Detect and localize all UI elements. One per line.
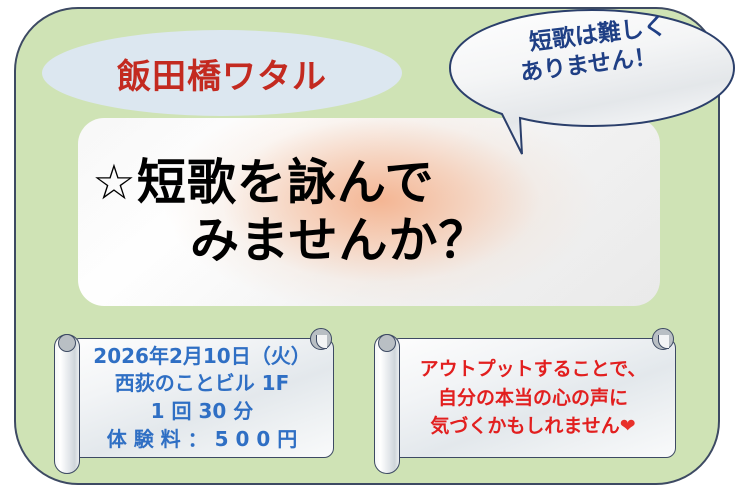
event-details-scroll: 2026年2月10日（火） 西荻のことビル 1F 1 回 30 分 体 験 料 … xyxy=(48,328,338,476)
message-text: アウトプットすることで、 自分の本当の心の声に 気づくかもしれません❤ xyxy=(394,340,672,456)
event-details-text: 2026年2月10日（火） 西荻のことビル 1F 1 回 30 分 体 験 料 … xyxy=(74,340,330,456)
message-line-2: 自分の本当の心の声に xyxy=(438,384,628,413)
message-scroll: アウトプットすることで、 自分の本当の心の声に 気づくかもしれません❤ xyxy=(368,328,680,476)
event-date: 2026年2月10日（火） xyxy=(93,343,310,371)
speech-bubble-shape xyxy=(444,2,740,172)
poster-canvas: 飯田橋ワタル ☆短歌を詠んで みませんか？ 短歌は難しく ありません！ xyxy=(0,0,740,500)
message-line-3-wrap: 気づくかもしれません❤ xyxy=(430,412,635,441)
event-duration: 1 回 30 分 xyxy=(151,398,254,426)
speech-bubble xyxy=(444,2,740,172)
message-line-1: アウトプットすることで、 xyxy=(420,355,647,384)
event-venue: 西荻のことビル 1F xyxy=(115,370,290,398)
event-fee: 体 験 料 ： 5 0 0 円 xyxy=(107,426,298,454)
heart-icon: ❤ xyxy=(620,415,636,437)
message-line-3: 気づくかもしれません xyxy=(430,415,619,437)
author-name-label: 飯田橋ワタル xyxy=(42,30,402,116)
title-line-2: みませんか？ xyxy=(78,216,660,266)
